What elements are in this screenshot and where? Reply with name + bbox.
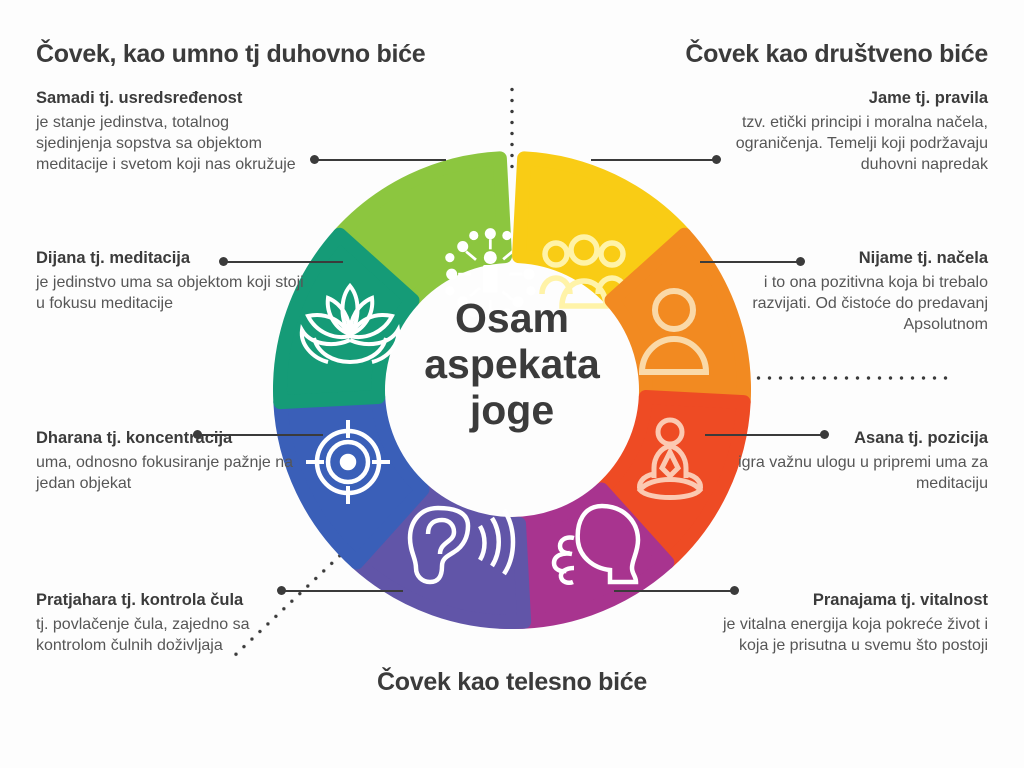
eight-aspects-wheel <box>252 130 772 650</box>
aspect-body-jame: tzv. etički principi i moralna načela, o… <box>720 112 988 176</box>
aspect-body-dharana: uma, odnosno fokusiranje pažnje na jedan… <box>36 452 304 495</box>
section-title-social: Čovek kao društveno biće <box>685 40 988 69</box>
aspect-lead-nijame: Nijame tj. načela <box>720 248 988 269</box>
aspect-lead-pranajama: Pranajama tj. vitalnost <box>720 590 988 611</box>
aspect-block-dharana: Dharana tj. koncentracija uma, odnosno f… <box>36 428 304 494</box>
aspect-block-nijame: Nijame tj. načela i to ona pozitivna koj… <box>720 248 988 335</box>
aspect-block-pratjahara: Pratjahara tj. kontrola čula tj. povlače… <box>36 590 316 656</box>
aspect-block-dijana: Dijana tj. meditacija je jedinstvo uma s… <box>36 248 304 314</box>
leader-line-jame <box>591 159 717 161</box>
aspect-lead-asana: Asana tj. pozicija <box>720 428 988 449</box>
divider-dotted-right <box>742 376 948 380</box>
aspect-lead-samadi: Samadi tj. usredsređenost <box>36 88 304 109</box>
aspect-block-jame: Jame tj. pravila tzv. etički principi i … <box>720 88 988 175</box>
aspect-lead-pratjahara: Pratjahara tj. kontrola čula <box>36 590 316 611</box>
aspect-block-pranajama: Pranajama tj. vitalnost je vitalna energ… <box>720 590 988 656</box>
aspect-block-asana: Asana tj. pozicija igra važnu ulogu u pr… <box>720 428 988 494</box>
aspect-block-samadi: Samadi tj. usredsređenost je stanje jedi… <box>36 88 304 175</box>
aspect-lead-dijana: Dijana tj. meditacija <box>36 248 304 269</box>
aspect-body-pranajama: je vitalna energija koja pokreće život i… <box>720 614 988 657</box>
infographic-canvas: Čovek, kao umno tj duhovno biće Čovek ka… <box>0 0 1024 768</box>
aspect-body-pratjahara: tj. povlačenje čula, zajedno sa kontrolo… <box>36 614 316 657</box>
aspect-lead-dharana: Dharana tj. koncentracija <box>36 428 304 449</box>
section-title-mind: Čovek, kao umno tj duhovno biće <box>36 40 425 69</box>
aspect-body-nijame: i to ona pozitivna koja bi trebalo razvi… <box>720 272 988 336</box>
aspect-lead-jame: Jame tj. pravila <box>720 88 988 109</box>
aspect-body-samadi: je stanje jedinstva, totalnog sjedinjenj… <box>36 112 304 176</box>
aspect-body-asana: igra važnu ulogu u pripremi uma za medit… <box>720 452 988 495</box>
leader-line-pranajama <box>614 590 735 592</box>
leader-line-samadi <box>316 159 446 161</box>
aspect-body-dijana: je jedinstvo uma sa objektom koji stoji … <box>36 272 304 315</box>
section-title-body: Čovek kao telesno biće <box>0 668 1024 697</box>
